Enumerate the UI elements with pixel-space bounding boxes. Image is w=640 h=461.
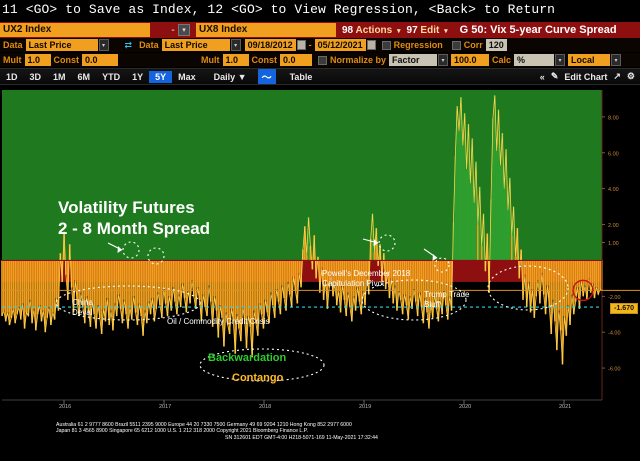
y-axis-tick-label: 4.00 — [608, 187, 619, 193]
data-label-right: Data — [136, 40, 162, 50]
label-contango: Contango — [232, 372, 283, 384]
collapse-icon[interactable]: « — [540, 72, 545, 82]
footer-line-3: SN 312601 EDT GMT-4:00 H218-5071-169 11-… — [225, 435, 378, 441]
normalize-value-field[interactable]: 100.0 — [451, 54, 489, 66]
command-line: 11 <GO> to Save as Index, 12 <GO> to Vie… — [0, 2, 640, 20]
const-value-left[interactable]: 0.0 — [82, 54, 118, 66]
end-date-field[interactable]: 05/12/2021 — [315, 39, 366, 51]
data-left-dropdown-icon[interactable]: ▾ — [99, 39, 109, 51]
edit-menu-button[interactable]: 97 Edit ▾ — [407, 25, 448, 36]
calendar-icon-end[interactable] — [367, 40, 376, 50]
mult-value-right[interactable]: 1.0 — [223, 54, 249, 66]
footer-line-2: Japan 81 3 4565 8900 Singapore 65 6212 1… — [56, 428, 308, 434]
edit-label: Edit — [420, 25, 439, 36]
chart-canvas-area[interactable]: 8.006.004.002.001.00-2.00-4.00-6.0020162… — [0, 86, 640, 408]
x-axis-tick-label: 2017 — [159, 404, 171, 408]
start-date-field[interactable]: 09/18/2012 — [245, 39, 296, 51]
operator-label: - — [168, 25, 178, 36]
annotation-powell-line2: Capitulation Pivot — [322, 279, 410, 289]
currency-dropdown-icon[interactable]: ▾ — [611, 54, 621, 66]
period-button-1y[interactable]: 1Y — [126, 72, 149, 82]
actions-label: Actions — [356, 25, 393, 36]
corr-checkbox[interactable] — [452, 41, 461, 50]
chart-right-controls: « ✎ Edit Chart ↗ ⚙ — [540, 71, 640, 82]
x-axis-tick-label: 2020 — [459, 404, 471, 408]
mult-label-right: Mult — [198, 55, 223, 65]
last-value-badge: -1.670 — [610, 303, 638, 314]
annotation-powell-pivot: Powell's December 2018 Capitulation Pivo… — [322, 269, 410, 289]
period-button-1d[interactable]: 1D — [0, 72, 24, 82]
regression-label: Regression — [394, 40, 446, 50]
y-axis-tick-label: -4.00 — [608, 331, 621, 337]
data-label-left: Data — [0, 40, 26, 50]
const-value-right[interactable]: 0.0 — [280, 54, 312, 66]
annotation-trump-bluff: Trump Trade Bluff — [424, 290, 470, 310]
annotation-oil-crisis: Oil / Commodity Credit Crisis — [167, 317, 270, 327]
normalize-checkbox[interactable] — [318, 56, 327, 65]
security-ticker-bar: UX2 Index - ▾ UX8 Index 98 Actions ▾ 97 … — [0, 22, 640, 38]
frequency-dropdown[interactable]: Daily ▼ — [208, 72, 253, 82]
label-backwardation: Backwardation — [208, 352, 286, 364]
x-axis-tick-label: 2021 — [559, 404, 571, 408]
y-axis-tick-label: -2.00 — [608, 295, 621, 301]
normalize-label: Normalize by — [330, 55, 389, 65]
edit-number: 97 — [407, 25, 418, 36]
annotation-china-line2: Deval — [72, 308, 93, 318]
security-1-field[interactable]: UX2 Index — [0, 23, 150, 37]
period-toolbar: 1D 3D 1M 6M YTD 1Y 5Y Max Daily ▼ 〜 Tabl… — [0, 68, 640, 85]
annotation-china-line1: China — [72, 298, 93, 308]
corr-value-field[interactable]: 120 — [486, 39, 507, 51]
normalize-by-field[interactable]: Factor — [389, 54, 437, 66]
period-button-5y[interactable]: 5Y — [149, 71, 172, 83]
x-axis-tick-label: 2016 — [59, 404, 71, 408]
calc-label: Calc — [489, 55, 514, 65]
annotation-powell-line1: Powell's December 2018 — [322, 269, 410, 279]
data-value-left[interactable]: Last Price — [26, 39, 98, 51]
data-right-dropdown-icon[interactable]: ▾ — [231, 39, 241, 51]
y-axis-tick-label: 2.00 — [608, 223, 619, 229]
date-range-separator: - — [306, 40, 315, 50]
swap-series-icon[interactable]: ⇄ — [125, 40, 133, 51]
annotation-trump-line2: Bluff — [424, 300, 470, 310]
data-value-right[interactable]: Last Price — [162, 39, 230, 51]
calc-value-field[interactable]: % — [514, 54, 554, 66]
operator-dropdown-icon[interactable]: ▾ — [178, 24, 190, 36]
period-button-max[interactable]: Max — [172, 72, 202, 82]
chart-title-line2: 2 - 8 Month Spread — [58, 219, 210, 239]
y-axis-tick-label: 6.00 — [608, 151, 619, 157]
corr-label: Corr — [464, 40, 486, 50]
edit-chart-button[interactable]: Edit Chart — [564, 72, 607, 82]
chart-title-line1: Volatility Futures — [58, 198, 195, 218]
y-axis-tick-label: -6.00 — [608, 367, 621, 373]
actions-menu-button[interactable]: 98 Actions ▾ — [342, 25, 401, 36]
gear-icon[interactable]: ⚙ — [627, 71, 635, 82]
mult-value-left[interactable]: 1.0 — [25, 54, 51, 66]
annotate-icon[interactable]: ↗ — [613, 71, 621, 82]
period-button-ytd[interactable]: YTD — [96, 72, 126, 82]
period-button-3d[interactable]: 3D — [24, 72, 48, 82]
normalize-dropdown-icon[interactable]: ▾ — [438, 54, 448, 66]
chevron-down-icon: ▾ — [397, 28, 401, 35]
period-button-1m[interactable]: 1M — [47, 72, 72, 82]
pencil-icon[interactable]: ✎ — [551, 71, 559, 82]
settings-row-1: Data Last Price ▾ ⇄ Data Last Price ▾ 09… — [0, 38, 640, 52]
settings-row-2: Mult 1.0 Const 0.0 Mult 1.0 Const 0.0 No… — [0, 53, 640, 67]
const-label-left: Const — [51, 55, 83, 65]
table-button[interactable]: Table — [290, 72, 313, 82]
period-button-6m[interactable]: 6M — [72, 72, 97, 82]
y-axis-tick-label: 8.00 — [608, 115, 619, 121]
calc-dropdown-icon[interactable]: ▾ — [555, 54, 565, 66]
x-axis-tick-label: 2019 — [359, 404, 371, 408]
annotation-china-deval: China Deval — [72, 298, 93, 318]
regression-checkbox[interactable] — [382, 41, 391, 50]
bloomberg-terminal-window: 11 <GO> to Save as Index, 12 <GO> to Vie… — [0, 0, 640, 461]
mult-label-left: Mult — [0, 55, 25, 65]
spread-chart-svg: 8.006.004.002.001.00-2.00-4.00-6.0020162… — [0, 86, 640, 408]
chart-type-icon[interactable]: 〜 — [258, 69, 276, 84]
x-axis-tick-label: 2018 — [259, 404, 271, 408]
currency-field[interactable]: Local — [568, 54, 610, 66]
const-label-right: Const — [249, 55, 281, 65]
terminal-footer: Australia 61 2 9777 8600 Brazil 5511 239… — [0, 412, 640, 461]
calendar-icon-start[interactable] — [297, 40, 306, 50]
annotation-trump-line1: Trump Trade — [424, 290, 470, 300]
security-2-field[interactable]: UX8 Index — [196, 23, 336, 37]
chevron-down-icon-edit: ▾ — [444, 28, 448, 35]
frequency-label: Daily — [214, 72, 236, 82]
chart-function-title: G 50: Vix 5-year Curve Spread — [460, 24, 617, 36]
y-axis-tick-label: 1.00 — [608, 241, 619, 247]
chevron-down-icon-frequency: ▼ — [238, 72, 247, 82]
actions-number: 98 — [342, 25, 353, 36]
